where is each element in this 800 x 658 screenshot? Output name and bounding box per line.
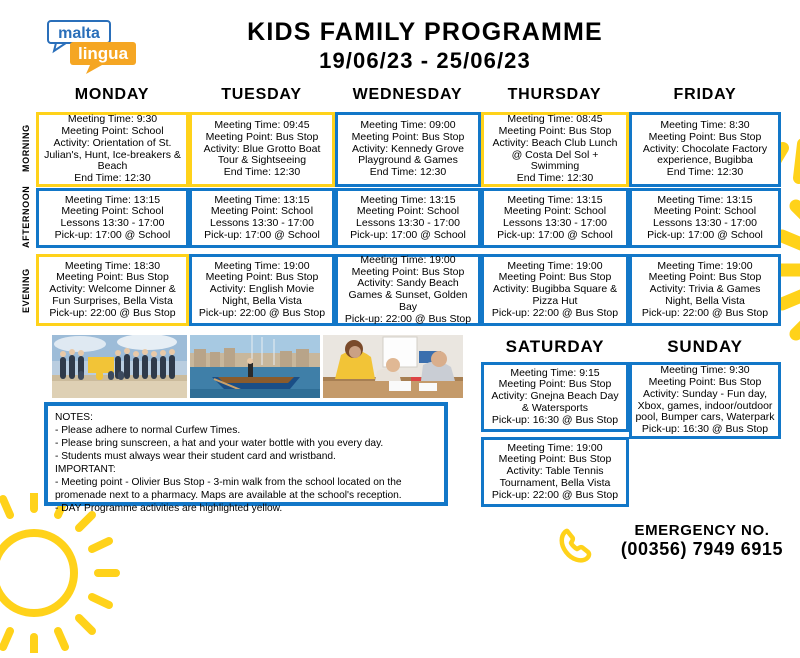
date-range: 19/06/23 - 25/06/23 <box>190 47 660 75</box>
cell-afternoon-wednesday[interactable]: Meeting Time: 13:15 Meeting Point: Schoo… <box>335 188 481 248</box>
cell-saturday-evening[interactable]: Meeting Time: 19:00 Meeting Point: Bus S… <box>481 437 629 507</box>
cell-sunday-day[interactable]: Meeting Time: 9:30 Meeting Point: Bus St… <box>629 362 781 439</box>
emergency-block: EMERGENCY NO. (00356) 7949 6915 <box>558 522 798 570</box>
cell-afternoon-tuesday[interactable]: Meeting Time: 13:15 Meeting Point: Schoo… <box>189 188 335 248</box>
cell-morning-friday[interactable]: Meeting Time: 8:30 Meeting Point: Bus St… <box>629 112 781 187</box>
cell-morning-wednesday[interactable]: Meeting Time: 09:00 Meeting Point: Bus S… <box>335 112 481 187</box>
row-label-evening: EVENING <box>21 256 31 326</box>
page-title: KIDS FAMILY PROGRAMME <box>190 18 660 47</box>
cell-afternoon-thursday[interactable]: Meeting Time: 13:15 Meeting Point: Schoo… <box>481 188 629 248</box>
day-header-monday: MONDAY <box>36 86 188 106</box>
day-header-friday: FRIDAY <box>629 86 781 106</box>
row-label-morning: MORNING <box>21 112 31 184</box>
cell-evening-monday[interactable]: Meeting Time: 18:30 Meeting Point: Bus S… <box>36 254 189 326</box>
cell-saturday-day[interactable]: Meeting Time: 9:15 Meeting Point: Bus St… <box>481 362 629 432</box>
photo-beach-group <box>52 335 187 398</box>
cell-evening-thursday[interactable]: Meeting Time: 19:00 Meeting Point: Bus S… <box>481 254 629 326</box>
cell-evening-tuesday[interactable]: Meeting Time: 19:00 Meeting Point: Bus S… <box>189 254 335 326</box>
day-header-wednesday: WEDNESDAY <box>335 86 480 106</box>
row-label-afternoon: AFTERNOON <box>21 190 31 248</box>
cell-afternoon-monday[interactable]: Meeting Time: 13:15 Meeting Point: Schoo… <box>36 188 189 248</box>
day-header-sunday: SUNDAY <box>629 337 781 359</box>
emergency-number: (00356) 7949 6915 <box>606 539 798 561</box>
cell-afternoon-friday[interactable]: Meeting Time: 13:15 Meeting Point: Schoo… <box>629 188 781 248</box>
notes-item: - Please adhere to normal Curfew Times. <box>55 424 437 437</box>
day-header-thursday: THURSDAY <box>481 86 628 106</box>
important-item: - DAY Programme activities are highlight… <box>55 502 437 515</box>
emergency-label: EMERGENCY NO. <box>606 522 798 539</box>
flyer-page: malta lingua KIDS FAMILY PROGRAMME 19/06… <box>0 0 800 618</box>
emergency-text: EMERGENCY NO. (00356) 7949 6915 <box>606 522 798 561</box>
day-header-saturday: SATURDAY <box>481 337 629 359</box>
notes-item: - Students must always wear their studen… <box>55 450 437 463</box>
notes-item: - Please bring sunscreen, a hat and your… <box>55 437 437 450</box>
maltalingua-logo: malta lingua <box>44 18 142 74</box>
svg-text:malta: malta <box>58 25 100 42</box>
sun-bottom-left-icon <box>0 493 122 653</box>
cell-morning-tuesday[interactable]: Meeting Time: 09:45 Meeting Point: Bus S… <box>189 112 335 187</box>
cell-evening-friday[interactable]: Meeting Time: 19:00 Meeting Point: Bus S… <box>629 254 781 326</box>
svg-text:lingua: lingua <box>78 44 129 63</box>
important-heading: IMPORTANT: <box>55 463 437 476</box>
cell-morning-monday[interactable]: Meeting Time: 9:30 Meeting Point: School… <box>36 112 189 187</box>
phone-icon <box>558 528 600 566</box>
page-title-block: KIDS FAMILY PROGRAMME 19/06/23 - 25/06/2… <box>190 18 660 74</box>
day-header-tuesday: TUESDAY <box>189 86 334 106</box>
photo-classroom <box>323 335 463 398</box>
photo-maltese-boat <box>190 335 320 398</box>
cell-morning-thursday[interactable]: Meeting Time: 08:45 Meeting Point: Bus S… <box>481 112 629 187</box>
notes-box: NOTES: - Please adhere to normal Curfew … <box>44 402 448 506</box>
important-item: - Meeting point - Olivier Bus Stop - 3-m… <box>55 476 437 502</box>
cell-evening-wednesday[interactable]: Meeting Time: 19:00 Meeting Point: Bus S… <box>335 254 481 326</box>
notes-heading: NOTES: <box>55 411 437 424</box>
